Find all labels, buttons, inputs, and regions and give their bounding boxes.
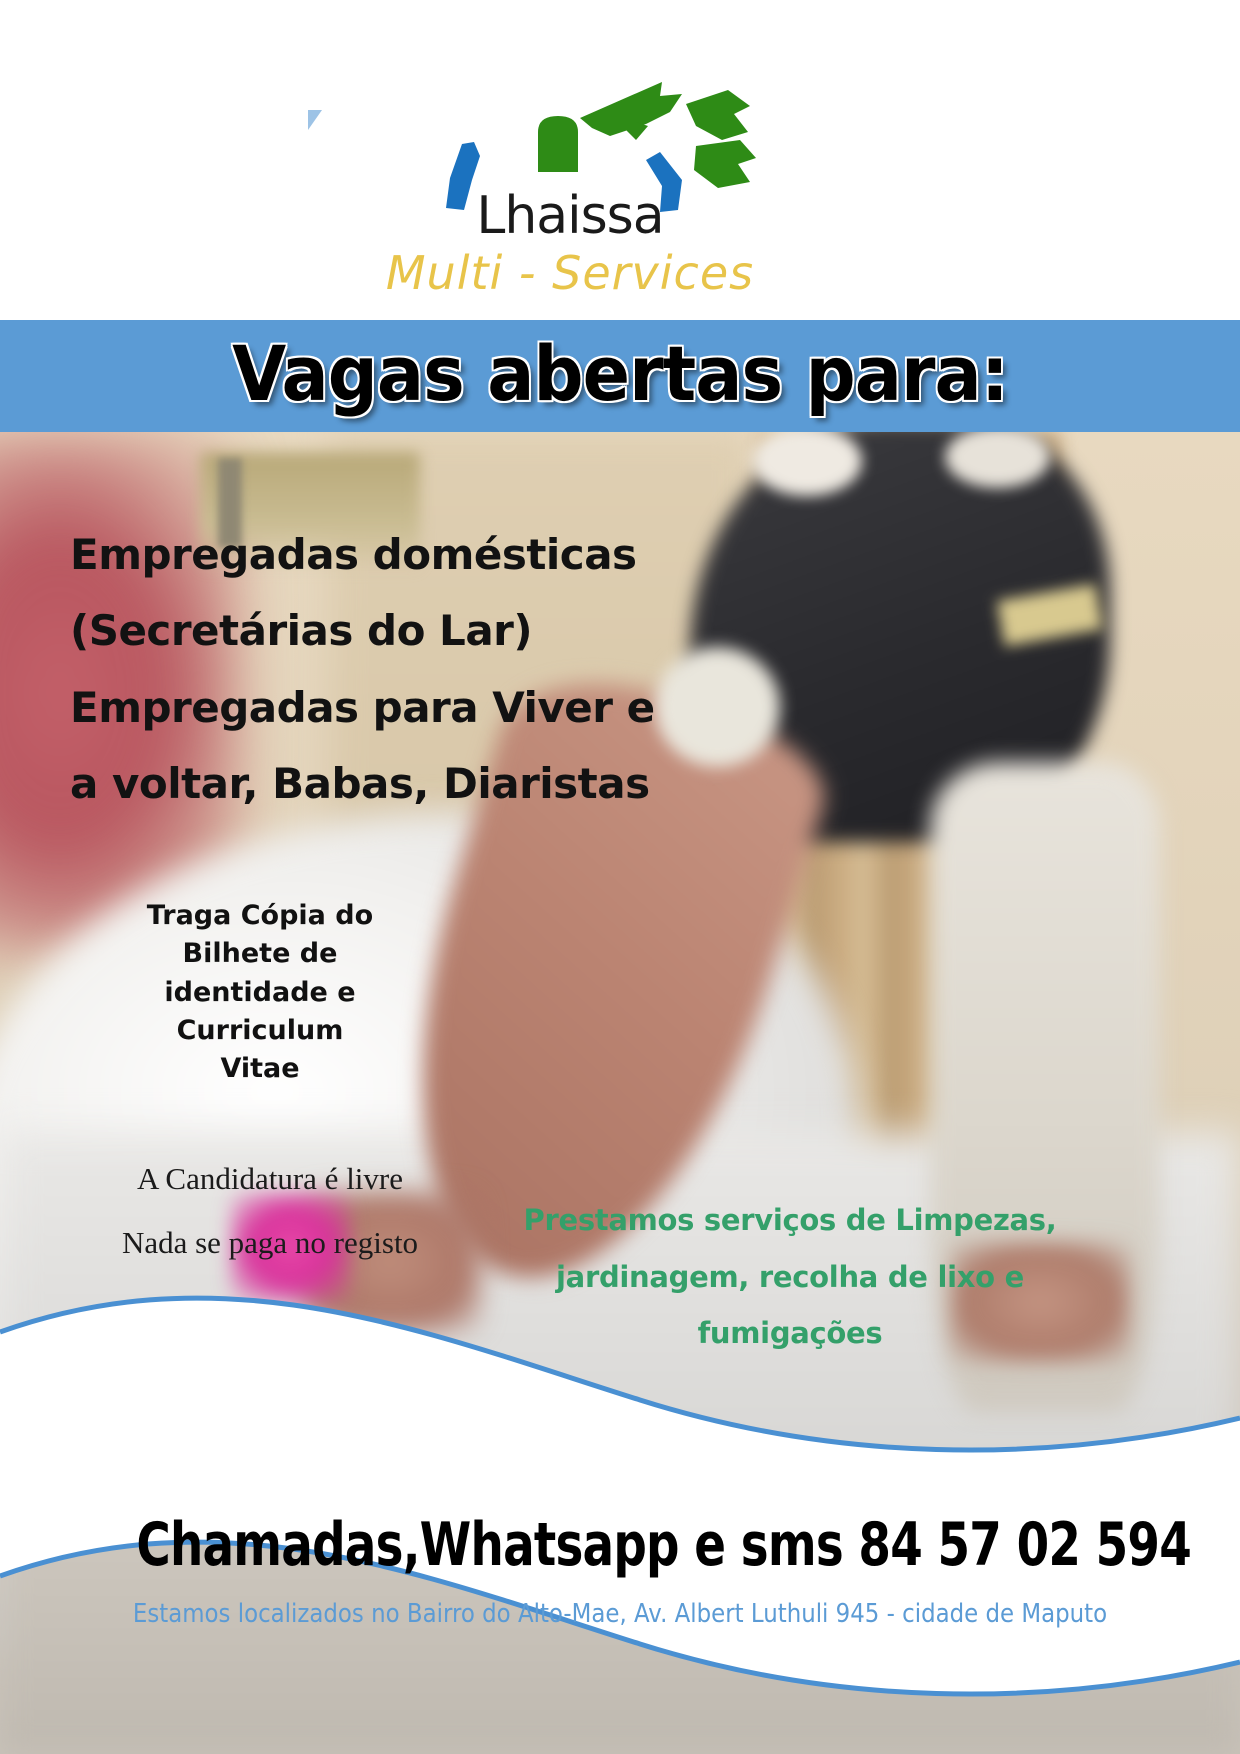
- brand-logo: Lhaissa Multi - Services: [330, 60, 810, 310]
- contact-address: Estamos localizados no Bairro do Alto-Ma…: [74, 1599, 1165, 1629]
- conditions-block: A Candidatura é livre Nada se paga no re…: [60, 1147, 480, 1274]
- requirements-line: Bilhete de: [110, 935, 410, 973]
- job-offer-line: a voltar, Babas, Diaristas: [70, 746, 710, 822]
- job-offer-line: (Secretárias do Lar): [70, 593, 710, 669]
- requirements-block: Traga Cópia do Bilhete de identidade e C…: [110, 897, 410, 1089]
- requirements-line: Vitae: [110, 1050, 410, 1088]
- job-offer-line: Empregadas para Viver e: [70, 670, 710, 746]
- requirements-line: Traga Cópia do: [110, 897, 410, 935]
- services-line: fumigações: [510, 1305, 1070, 1362]
- headline-banner: Vagas abertas para:: [0, 320, 1240, 432]
- job-offer-list: Empregadas domésticas (Secretárias do La…: [70, 517, 710, 823]
- conditions-line: A Candidatura é livre: [60, 1147, 480, 1211]
- conditions-line: Nada se paga no registo: [60, 1211, 480, 1275]
- job-offer-line: Empregadas domésticas: [70, 517, 710, 593]
- header-section: Lhaissa Multi - Services: [0, 0, 1240, 320]
- flyer-poster: Lhaissa Multi - Services Vagas abertas p…: [0, 0, 1240, 1754]
- services-line: jardinagem, recolha de lixo e: [510, 1249, 1070, 1306]
- contact-phone[interactable]: Chamadas,Whatsapp e sms 84 57 02 594: [136, 1508, 1103, 1583]
- services-block: Prestamos serviços de Limpezas, jardinag…: [510, 1192, 1070, 1362]
- decorative-triangle-icon: [308, 110, 322, 130]
- brand-name: Lhaissa: [330, 190, 810, 242]
- contact-footer: Chamadas,Whatsapp e sms 84 57 02 594 Est…: [0, 1508, 1240, 1629]
- services-line: Prestamos serviços de Limpezas,: [510, 1192, 1070, 1249]
- headline-text: Vagas abertas para:: [50, 330, 1191, 417]
- brand-tagline: Multi - Services: [330, 250, 810, 296]
- requirements-line: Curriculum: [110, 1012, 410, 1050]
- requirements-line: identidade e: [110, 974, 410, 1012]
